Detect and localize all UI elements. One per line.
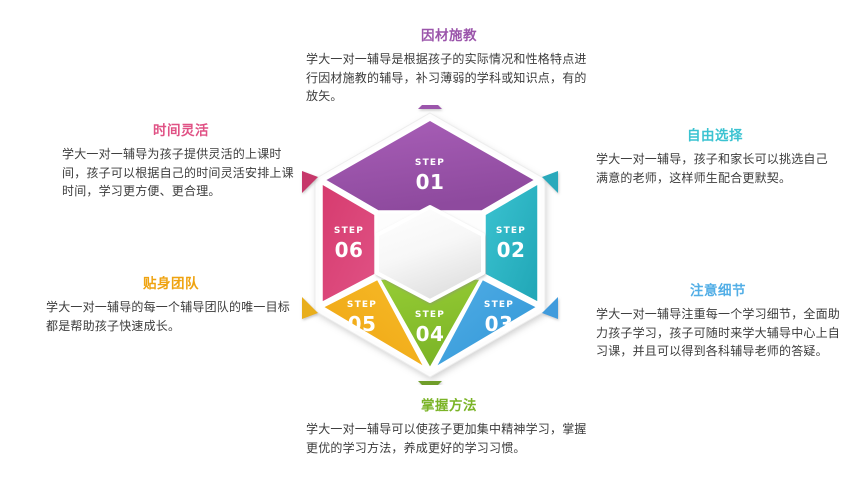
text-block-top-left-title: 时间灵活 <box>62 123 300 139</box>
text-block-top-right-title: 自由选择 <box>596 128 834 144</box>
text-block-bottom-left-body: 学大一对一辅导的每一个辅导团队的唯一目标都是帮助孩子快速成长。 <box>46 298 296 335</box>
text-block-top: 因材施教 学大一对一辅导是根据孩子的实际情况和性格特点进行因材施教的辅导，补习薄… <box>306 28 592 106</box>
hexagon-segment-step-06-label: STEP <box>334 226 364 236</box>
text-block-bottom-right-title: 注意细节 <box>596 283 840 299</box>
hexagon-segment-step-05-number: 05 <box>348 312 377 336</box>
arrow-top-icon <box>418 105 442 109</box>
text-block-top-right-body: 学大一对一辅导，孩子和家长可以挑选自己满意的老师，这样师生配合更默契。 <box>596 150 834 187</box>
hexagon-segment-step-01-number: 01 <box>416 170 445 194</box>
hexagon-segment-step-03-number: 03 <box>485 312 514 336</box>
hexagon-segment-step-04-label: STEP <box>415 310 445 320</box>
text-block-top-left-body: 学大一对一辅导为孩子提供灵活的上课时间，孩子可以根据自己的时间灵活安排上课时间，… <box>62 145 300 201</box>
hexagon-segment-step-05-label: STEP <box>347 300 377 310</box>
text-block-top-title: 因材施教 <box>306 28 592 44</box>
text-block-top-left: 时间灵活 学大一对一辅导为孩子提供灵活的上课时间，孩子可以根据自己的时间灵活安排… <box>62 123 300 201</box>
hexagon-cycle-diagram: STEP 01 STEP 02 STEP 03 STEP 04 <box>296 105 564 385</box>
text-block-bottom-right-body: 学大一对一辅导注重每一个学习细节，全面助力孩子学习，孩子可随时来学大辅导中心上自… <box>596 305 840 361</box>
hexagon-segment-step-06-number: 06 <box>335 238 364 262</box>
hexagon-segment-step-01-label: STEP <box>415 158 445 168</box>
text-block-top-body: 学大一对一辅导是根据孩子的实际情况和性格特点进行因材施教的辅导，补习薄弱的学科或… <box>306 50 592 106</box>
text-block-bottom-body: 学大一对一辅导可以使孩子更加集中精神学习，掌握更优的学习方法，养成更好的学习习惯… <box>306 420 592 457</box>
hexagon-segment-step-02-label: STEP <box>496 226 526 236</box>
text-block-bottom-title: 掌握方法 <box>306 398 592 414</box>
text-block-bottom: 掌握方法 学大一对一辅导可以使孩子更加集中精神学习，掌握更优的学习方法，养成更好… <box>306 398 592 457</box>
hexagon-segment-step-02-number: 02 <box>497 238 526 262</box>
infographic-canvas: 因材施教 学大一对一辅导是根据孩子的实际情况和性格特点进行因材施教的辅导，补习薄… <box>0 0 860 482</box>
hexagon-segment-step-03-label: STEP <box>484 300 514 310</box>
text-block-top-right: 自由选择 学大一对一辅导，孩子和家长可以挑选自己满意的老师，这样师生配合更默契。 <box>596 128 834 187</box>
text-block-bottom-left: 贴身团队 学大一对一辅导的每一个辅导团队的唯一目标都是帮助孩子快速成长。 <box>46 276 296 335</box>
text-block-bottom-left-title: 贴身团队 <box>46 276 296 292</box>
arrow-bottom-icon <box>418 381 442 385</box>
hexagon-segment-step-04-number: 04 <box>416 322 445 346</box>
text-block-bottom-right: 注意细节 学大一对一辅导注重每一个学习细节，全面助力孩子学习，孩子可随时来学大辅… <box>596 283 840 361</box>
